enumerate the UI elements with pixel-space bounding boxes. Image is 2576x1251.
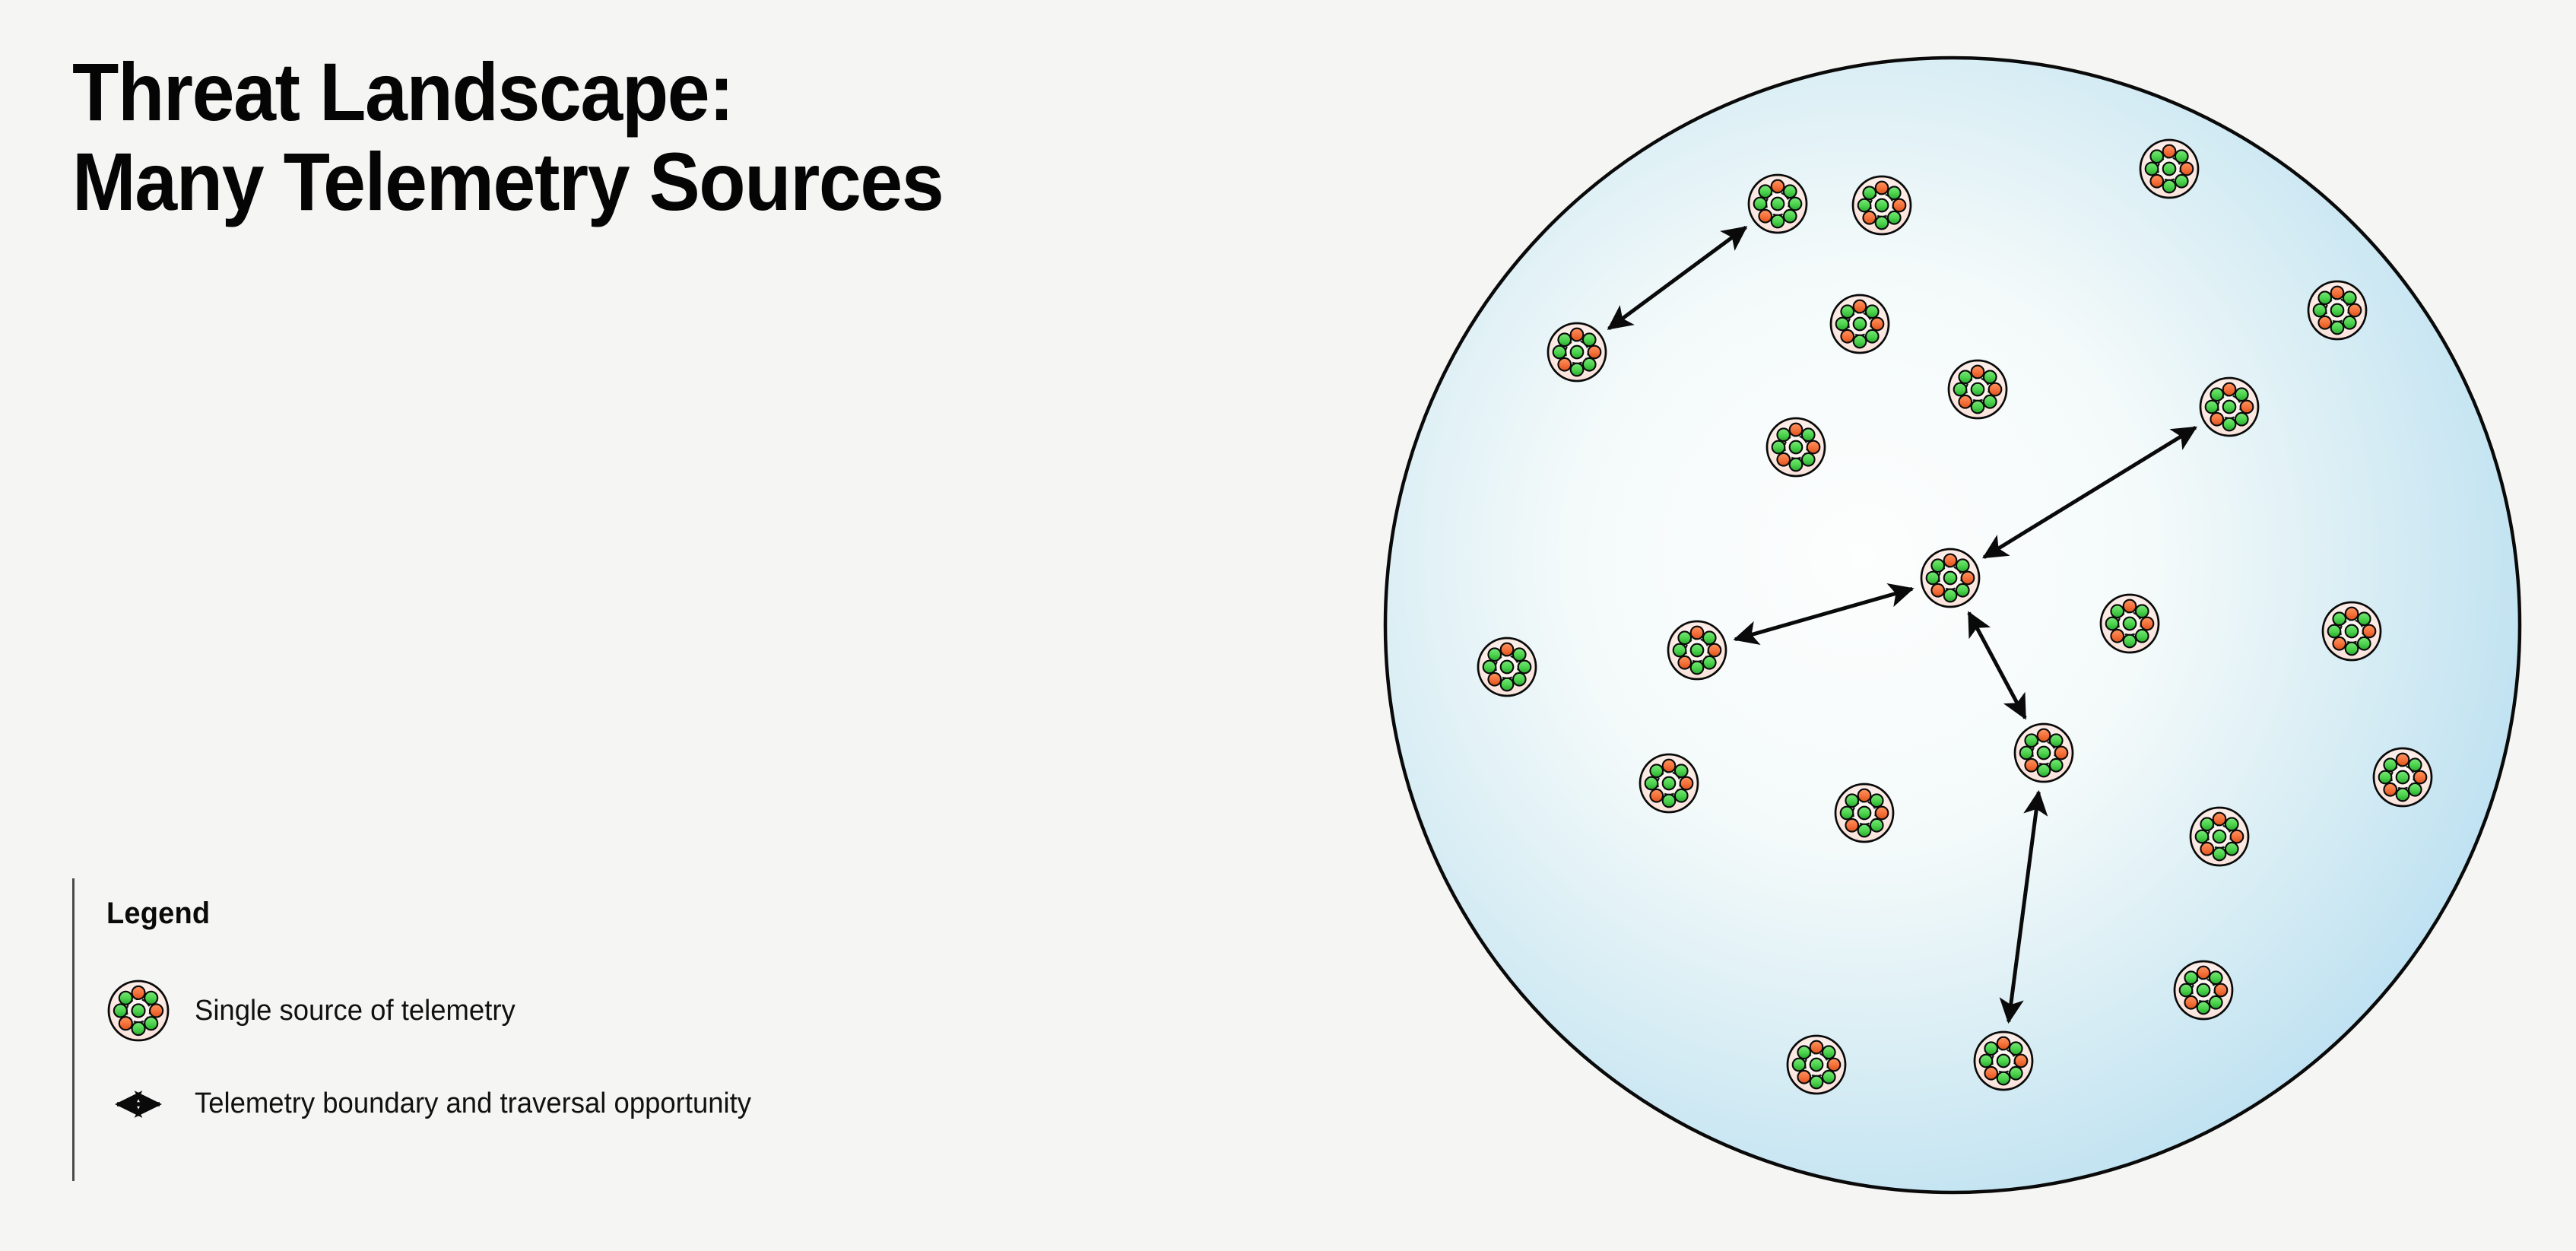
telemetry-node bbox=[1949, 360, 2007, 418]
legend-label-traversal: Telemetry boundary and traversal opportu… bbox=[195, 1087, 751, 1120]
telemetry-node bbox=[1835, 784, 1893, 842]
telemetry-node bbox=[1548, 323, 1606, 381]
telemetry-node bbox=[1478, 638, 1536, 696]
telemetry-node bbox=[1853, 176, 1911, 234]
telemetry-node bbox=[2175, 961, 2232, 1019]
legend: Legend Single source of telemetry Teleme… bbox=[72, 878, 1213, 1183]
telemetry-node bbox=[1749, 175, 1807, 233]
telemetry-node bbox=[2374, 748, 2432, 806]
legend-label-telemetry-source: Single source of telemetry bbox=[195, 995, 516, 1027]
double-arrow-icon bbox=[106, 1089, 170, 1119]
telemetry-node bbox=[2191, 808, 2248, 865]
slide-canvas: Threat Landscape: Many Telemetry Sources bbox=[0, 0, 2576, 1251]
telemetry-node bbox=[1788, 1036, 1845, 1094]
telemetry-node bbox=[1668, 621, 1726, 679]
legend-heading: Legend bbox=[106, 897, 210, 931]
telemetry-node bbox=[2140, 140, 2198, 198]
telemetry-node bbox=[1640, 754, 1698, 812]
telemetry-node bbox=[2323, 602, 2381, 660]
telemetry-source-icon-glyph bbox=[109, 981, 168, 1040]
telemetry-node bbox=[2101, 595, 2159, 652]
telemetry-source-icon bbox=[106, 979, 170, 1043]
telemetry-node bbox=[1921, 549, 1979, 607]
telemetry-node bbox=[2200, 378, 2258, 436]
telemetry-node bbox=[1767, 418, 1825, 476]
telemetry-node bbox=[2015, 724, 2073, 782]
legend-item-telemetry-source: Single source of telemetry bbox=[106, 979, 528, 1043]
telemetry-node bbox=[2308, 281, 2366, 339]
telemetry-node bbox=[1975, 1032, 2032, 1090]
legend-divider bbox=[72, 878, 75, 1181]
legend-item-traversal: Telemetry boundary and traversal opportu… bbox=[106, 1087, 775, 1120]
telemetry-node bbox=[1831, 295, 1889, 353]
